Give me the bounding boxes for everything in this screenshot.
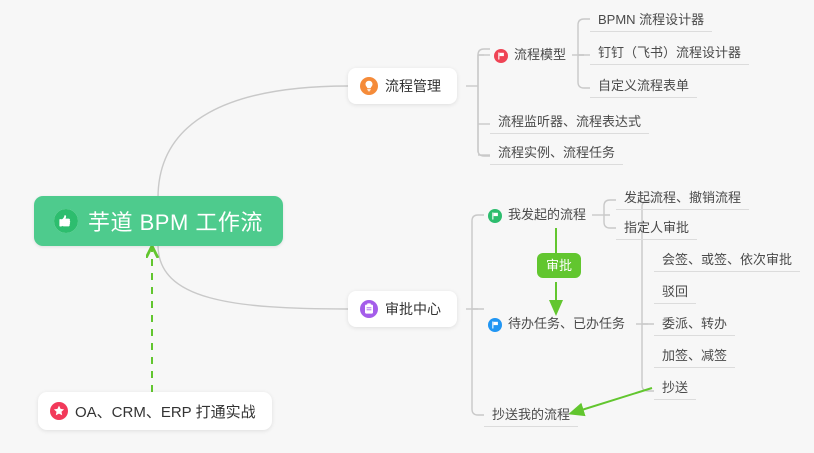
- leaf-label: 驳回: [662, 283, 688, 300]
- clipboard-icon: [360, 300, 378, 318]
- leaf-assignee-approval[interactable]: 指定人审批: [616, 216, 697, 240]
- flag-icon: [488, 209, 502, 223]
- leaf-label: 指定人审批: [624, 219, 689, 236]
- node-process-model[interactable]: 流程模型: [490, 42, 574, 66]
- leaf-reject[interactable]: 驳回: [654, 280, 696, 304]
- leaf-label: 流程监听器、流程表达式: [498, 113, 641, 130]
- leaf-label: BPMN 流程设计器: [598, 11, 704, 28]
- leaf-cc-to-me-processes[interactable]: 抄送我的流程: [484, 403, 578, 427]
- leaf-custom-form[interactable]: 自定义流程表单: [590, 74, 697, 98]
- star-icon: [50, 402, 68, 420]
- leaf-label: 流程实例、流程任务: [498, 144, 615, 161]
- leaf-dingtalk-designer[interactable]: 钉钉（飞书）流程设计器: [590, 41, 749, 65]
- lightbulb-icon: [360, 77, 378, 95]
- leaf-cc[interactable]: 抄送: [654, 376, 696, 400]
- node-todo-done-tasks[interactable]: 待办任务、已办任务: [484, 311, 633, 335]
- branch-label: 审批中心: [385, 299, 441, 319]
- bottom-note-label: OA、CRM、ERP 打通实战: [75, 401, 256, 422]
- leaf-process-instance-task[interactable]: 流程实例、流程任务: [490, 141, 623, 165]
- node-label: 流程模型: [514, 46, 566, 63]
- flag-icon: [488, 318, 502, 332]
- leaf-label: 自定义流程表单: [598, 77, 689, 94]
- root-node-label: 芋道 BPM 工作流: [88, 205, 263, 237]
- branch-node-process-management[interactable]: 流程管理: [348, 68, 457, 104]
- leaf-label: 委派、转办: [662, 315, 727, 332]
- node-label: 我发起的流程: [508, 206, 586, 223]
- branch-node-approval-center[interactable]: 审批中心: [348, 291, 457, 327]
- bottom-note-node[interactable]: OA、CRM、ERP 打通实战: [38, 392, 272, 430]
- leaf-delegate-transfer[interactable]: 委派、转办: [654, 312, 735, 336]
- leaf-label: 发起流程、撤销流程: [624, 189, 741, 206]
- leaf-label: 抄送: [662, 379, 688, 396]
- leaf-countersign[interactable]: 会签、或签、依次审批: [654, 248, 800, 272]
- node-label: 待办任务、已办任务: [508, 315, 625, 332]
- leaf-start-cancel-process[interactable]: 发起流程、撤销流程: [616, 186, 749, 210]
- mindmap-canvas: 芋道 BPM 工作流 OA、CRM、ERP 打通实战 流程管理: [0, 0, 814, 453]
- thumbs-up-icon: [54, 209, 78, 233]
- flag-icon: [494, 49, 508, 63]
- root-node[interactable]: 芋道 BPM 工作流: [34, 196, 283, 246]
- approval-annotation-chip: 审批: [537, 253, 581, 278]
- leaf-label: 钉钉（飞书）流程设计器: [598, 44, 741, 61]
- leaf-label: 抄送我的流程: [492, 406, 570, 423]
- leaf-label: 会签、或签、依次审批: [662, 251, 792, 268]
- node-my-initiated-processes[interactable]: 我发起的流程: [484, 202, 594, 226]
- branch-label: 流程管理: [385, 76, 441, 96]
- leaf-bpmn-designer[interactable]: BPMN 流程设计器: [590, 8, 712, 32]
- approval-chip-label: 审批: [546, 258, 572, 273]
- leaf-label: 加签、减签: [662, 347, 727, 364]
- leaf-add-remove-sign[interactable]: 加签、减签: [654, 344, 735, 368]
- leaf-process-listener-expression[interactable]: 流程监听器、流程表达式: [490, 110, 649, 134]
